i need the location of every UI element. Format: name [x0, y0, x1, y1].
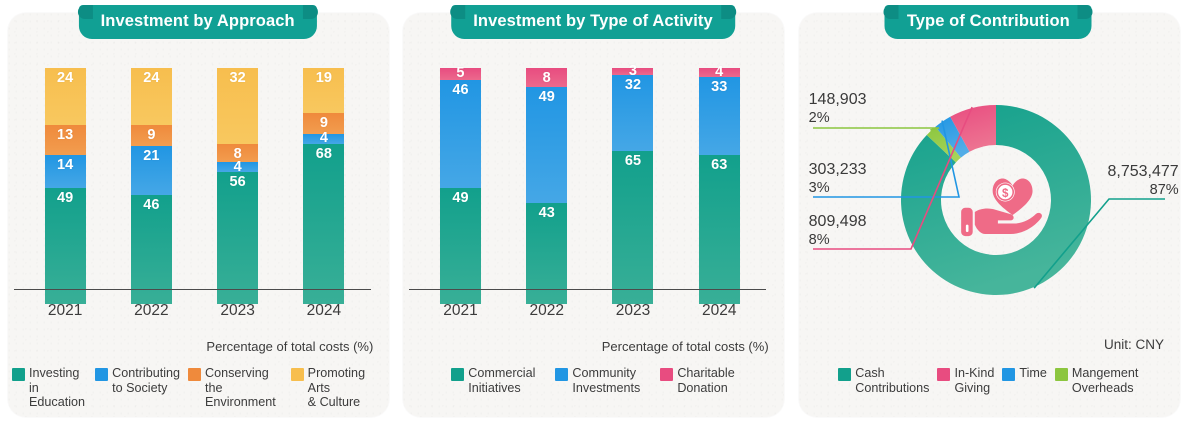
bar-segment-value: 46: [452, 82, 468, 99]
bar-segment: 65: [612, 151, 653, 304]
bar-group: 54649849433326543363: [417, 52, 762, 304]
banner-notch-right-icon: [303, 5, 318, 19]
panel-title-banner-2: Investment by Type of Activity: [451, 5, 735, 39]
donut-callout-time: 303,233 3%: [809, 160, 867, 198]
legend-item-label: Promoting Arts & Culture: [308, 366, 384, 410]
legend-swatch-icon: [937, 368, 950, 381]
x-axis-tick-label: 2024: [303, 302, 344, 320]
legend-item[interactable]: Community Investments: [555, 366, 640, 395]
panel-investment-by-approach: Investment by Approach 24131449249214632…: [0, 0, 395, 429]
bar-segment: 32: [612, 75, 653, 151]
donut-chart: $ 148,903 2% 303,233 3% 809,498 8% 8,753…: [791, 40, 1186, 330]
bar-segment-value: 49: [57, 190, 73, 207]
axis-caption: Percentage of total costs (%): [206, 339, 373, 354]
x-axis-tick-label: 2024: [699, 302, 740, 320]
stacked-bar: 24131449: [45, 68, 86, 304]
bar-segment: 4: [303, 134, 344, 143]
legend-item-label: Mangement Overheads: [1072, 366, 1139, 395]
x-axis-tick-labels: 2021202220232024: [22, 302, 367, 320]
bar-segment: 19: [303, 68, 344, 113]
donut-callout-in-kind-giving: 809,498 8%: [809, 212, 867, 250]
banner-notch-left-icon: [884, 5, 899, 19]
bar-segment-value: 14: [57, 157, 73, 174]
bar-segment-value: 24: [143, 70, 159, 87]
legend-swatch-icon: [555, 368, 568, 381]
panel-title-banner-1: Investment by Approach: [79, 5, 317, 39]
legend-item[interactable]: Promoting Arts & Culture: [291, 366, 384, 410]
bar-segment: 8: [526, 68, 567, 87]
banner-notch-right-icon: [721, 5, 736, 19]
legend-item[interactable]: Investing in Education: [12, 366, 87, 410]
stacked-bar: 84943: [526, 68, 567, 304]
bar-group: 241314492492146328456199468: [22, 52, 367, 304]
donut-callout-cash-contributions: 8,753,477 87%: [1107, 162, 1178, 200]
bar-segment: 14: [45, 155, 86, 188]
legend-swatch-icon: [291, 368, 304, 381]
legend-swatch-icon: [451, 368, 464, 381]
x-axis-tick-label: 2023: [217, 302, 258, 320]
bar-segment: 24: [45, 68, 86, 125]
bar-segment: 63: [699, 155, 740, 304]
bar-segment-value: 68: [316, 146, 332, 163]
bar-segment: 49: [526, 87, 567, 203]
legend-swatch-icon: [95, 368, 108, 381]
stacked-bar: 2492146: [131, 68, 172, 304]
panel-title: Investment by Approach: [101, 12, 295, 30]
stacked-bar: 33265: [612, 68, 653, 304]
legend-item[interactable]: Contributing to Society: [95, 366, 180, 410]
legend-item-label: Time: [1019, 366, 1047, 381]
bar-segment-value: 32: [625, 77, 641, 94]
stacked-bar: 199468: [303, 68, 344, 304]
bar-segment: 46: [440, 80, 481, 189]
donut-callout-management-overheads: 148,903 2%: [809, 90, 867, 128]
bar-segment: 32: [217, 68, 258, 144]
bar-segment-value: 63: [711, 157, 727, 174]
bar-segment-value: 32: [230, 70, 246, 87]
stacked-bar: 54649: [440, 68, 481, 304]
legend-swatch-icon: [1002, 368, 1015, 381]
panel-investment-by-type-of-activity: Investment by Type of Activity 546498494…: [395, 0, 790, 429]
bar-segment-value: 49: [539, 89, 555, 106]
bar-segment-value: 21: [143, 148, 159, 165]
legend-item[interactable]: Cash Contributions: [838, 366, 929, 395]
legend: Cash ContributionsIn-Kind GivingTimeMang…: [791, 366, 1186, 395]
hand-holding-heart-dollar-icon: $: [961, 179, 1042, 237]
bar-segment: 4: [699, 68, 740, 77]
bar-segment-value: 43: [539, 205, 555, 222]
legend-swatch-icon: [188, 368, 201, 381]
banner-notch-right-icon: [1078, 5, 1093, 19]
bar-chart-1: 241314492492146328456199468 202120222023…: [0, 52, 381, 304]
svg-text:$: $: [1002, 188, 1009, 200]
bar-segment-value: 8: [543, 70, 551, 87]
panel-type-of-contribution: Type of Contribution $ 148,903 2% 303,23…: [791, 0, 1186, 429]
bar-segment-value: 49: [452, 190, 468, 207]
panel-title: Investment by Type of Activity: [473, 12, 713, 30]
legend-item[interactable]: Time: [1002, 366, 1047, 395]
bar-segment: 24: [131, 68, 172, 125]
bar-segment: 9: [131, 125, 172, 146]
legend-item[interactable]: Conserving the Environment: [188, 366, 283, 410]
bar-segment: 68: [303, 144, 344, 304]
legend: Investing in EducationContributing to So…: [0, 366, 395, 410]
bar-segment-value: 13: [57, 127, 73, 144]
x-axis-tick-label: 2022: [526, 302, 567, 320]
legend-item-label: Investing in Education: [29, 366, 87, 410]
bar-segment: 49: [45, 188, 86, 304]
x-axis-tick-label: 2023: [612, 302, 653, 320]
bar-segment-value: 5: [456, 65, 464, 82]
legend-item[interactable]: Mangement Overheads: [1055, 366, 1139, 395]
bar-segment-value: 19: [316, 70, 332, 87]
x-axis-line: [14, 289, 371, 290]
banner-notch-left-icon: [450, 5, 465, 19]
legend-item[interactable]: Commercial Initiatives: [451, 366, 535, 395]
bar-segment: 21: [131, 146, 172, 196]
legend-item[interactable]: Charitable Donation: [660, 366, 734, 395]
legend-swatch-icon: [660, 368, 673, 381]
legend-item-label: Commercial Initiatives: [468, 366, 535, 395]
bar-segment: 4: [217, 162, 258, 171]
bar-segment: 5: [440, 68, 481, 80]
bar-segment-value: 9: [147, 127, 155, 144]
stacked-bar: 328456: [217, 68, 258, 304]
bar-segment: 56: [217, 172, 258, 304]
legend: Commercial InitiativesCommunity Investme…: [395, 366, 790, 395]
legend-item-label: Contributing to Society: [112, 366, 180, 395]
legend-item[interactable]: In-Kind Giving: [937, 366, 994, 395]
bar-chart-2: 54649849433326543363 2021202220232024: [395, 52, 776, 304]
legend-swatch-icon: [838, 368, 851, 381]
unit-label: Unit: CNY: [1104, 337, 1164, 352]
bar-segment-value: 56: [230, 174, 246, 191]
legend-item-label: Community Investments: [572, 366, 640, 395]
x-axis-tick-labels: 2021202220232024: [417, 302, 762, 320]
legend-item-label: Charitable Donation: [677, 366, 734, 395]
bar-segment: 33: [699, 77, 740, 155]
bar-segment: 13: [45, 125, 86, 156]
x-axis-line: [409, 289, 766, 290]
x-axis-tick-label: 2021: [440, 302, 481, 320]
bar-segment: 3: [612, 68, 653, 75]
banner-notch-left-icon: [78, 5, 93, 19]
legend-swatch-icon: [1055, 368, 1068, 381]
legend-swatch-icon: [12, 368, 25, 381]
x-axis-tick-label: 2022: [131, 302, 172, 320]
panel-title-banner-3: Type of Contribution: [885, 5, 1092, 39]
legend-item-label: Cash Contributions: [855, 366, 929, 395]
bar-segment-value: 65: [625, 153, 641, 170]
legend-item-label: Conserving the Environment: [205, 366, 283, 410]
panel-title: Type of Contribution: [907, 12, 1070, 30]
x-axis-tick-label: 2021: [45, 302, 86, 320]
bar-segment: 49: [440, 188, 481, 304]
donut-leader-line: [813, 128, 939, 130]
legend-item-label: In-Kind Giving: [954, 366, 994, 395]
infographic-board: Investment by Approach 24131449249214632…: [0, 0, 1186, 429]
stacked-bar: 43363: [699, 68, 740, 304]
axis-caption: Percentage of total costs (%): [602, 339, 769, 354]
bar-segment-value: 24: [57, 70, 73, 87]
bar-segment-value: 46: [143, 197, 159, 214]
bar-segment-value: 33: [711, 79, 727, 96]
